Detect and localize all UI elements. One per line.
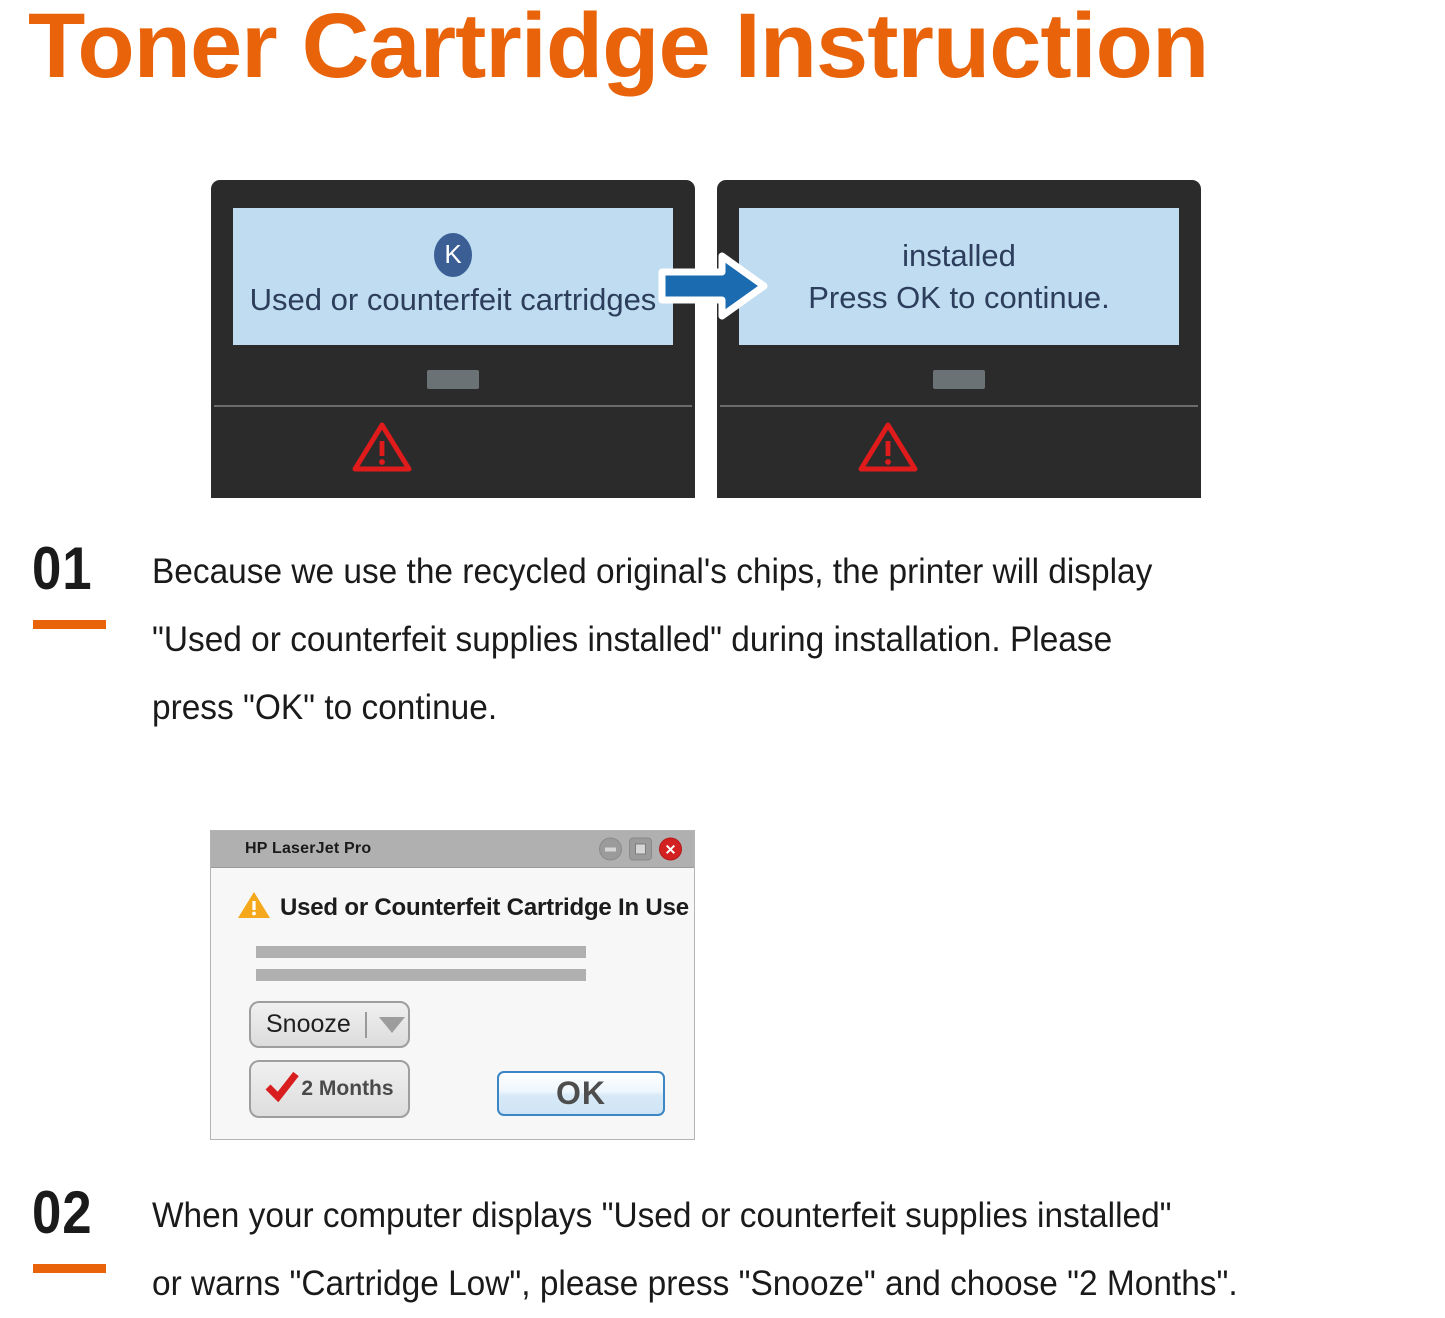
printer-divider-left — [214, 405, 692, 407]
snooze-divider — [365, 1012, 367, 1038]
ok-button[interactable]: OK — [497, 1071, 665, 1116]
printer-panel-left: K Used or counterfeit cartridges — [211, 180, 695, 498]
step-text-line: When your computer displays "Used or cou… — [152, 1182, 1365, 1250]
two-months-label: 2 Months — [301, 1077, 393, 1101]
printer-ok-button-left[interactable] — [427, 370, 479, 389]
ok-button-label: OK — [556, 1075, 606, 1112]
printer-panel-right: installed Press OK to continue. — [717, 180, 1201, 498]
dialog-warning-row: Used or Counterfeit Cartridge In Use — [237, 890, 689, 925]
red-warning-triangle-icon-left — [351, 420, 413, 479]
printer-ok-button-right[interactable] — [933, 370, 985, 389]
printer-lcd-right: installed Press OK to continue. — [739, 208, 1179, 345]
step-text-line: "Used or counterfeit supplies installed"… — [152, 606, 1365, 674]
step-text-body: When your computer displays "Used or cou… — [152, 1182, 1365, 1318]
lcd-message-line-2: Press OK to continue. — [808, 277, 1110, 319]
toner-k-icon: K — [434, 233, 472, 277]
placeholder-bar — [256, 969, 586, 981]
step-accent-dash — [33, 620, 106, 629]
step-number: 01 — [32, 538, 93, 600]
window-controls: ✕ — [599, 838, 682, 861]
dialog-title: HP LaserJet Pro — [245, 840, 371, 858]
two-months-option[interactable]: 2 Months — [249, 1060, 410, 1118]
step-text-line: or warns "Cartridge Low", please press "… — [152, 1250, 1365, 1318]
chevron-down-icon[interactable] — [379, 1017, 405, 1033]
red-check-icon — [265, 1072, 299, 1107]
snooze-dropdown[interactable]: Snooze — [249, 1001, 410, 1048]
blue-right-arrow-icon — [658, 250, 768, 327]
close-icon[interactable]: ✕ — [659, 838, 682, 861]
minimize-icon[interactable] — [599, 838, 622, 861]
maximize-icon[interactable] — [629, 838, 652, 861]
snooze-label: Snooze — [266, 1010, 351, 1039]
printer-divider-right — [720, 405, 1198, 407]
placeholder-bar — [256, 946, 586, 958]
dialog-heading: Used or Counterfeit Cartridge In Use — [280, 894, 689, 922]
amber-warning-triangle-icon — [237, 890, 271, 925]
red-warning-triangle-icon-right — [857, 420, 919, 479]
step-accent-dash — [33, 1264, 106, 1273]
step-text-body: Because we use the recycled original's c… — [152, 538, 1365, 742]
step-text-line: Because we use the recycled original's c… — [152, 538, 1365, 606]
step-number: 02 — [32, 1182, 93, 1244]
printer-panels-group: K Used or counterfeit cartridges install… — [211, 180, 1201, 500]
page-title: Toner Cartridge Instruction — [28, 0, 1445, 98]
step-text-line: press "OK" to continue. — [152, 674, 1365, 742]
lcd-message-line: Used or counterfeit cartridges — [250, 279, 657, 321]
lcd-message-line-1: installed — [902, 235, 1016, 277]
dialog-title-bar: HP LaserJet Pro ✕ — [211, 831, 694, 868]
printer-lcd-left: K Used or counterfeit cartridges — [233, 208, 673, 345]
